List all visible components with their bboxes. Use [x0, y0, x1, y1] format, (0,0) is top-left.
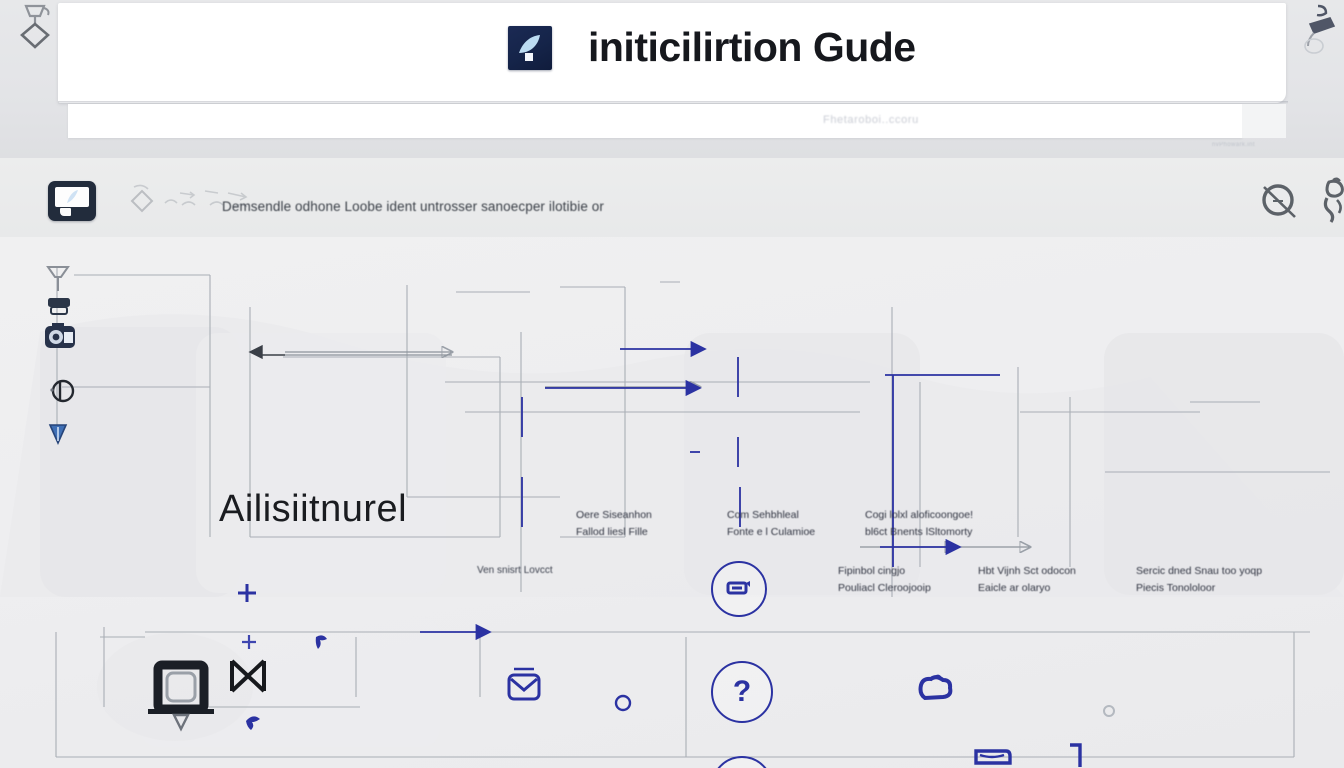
watermark: Fhetaroboi..ccoru: [823, 114, 919, 126]
question-mark-icon: ?: [733, 677, 751, 707]
dot-marker-icon: [1100, 702, 1118, 720]
label-group-4: Fipinbol cingjo Pouliacl Cleroojooip: [838, 563, 931, 597]
plus-small-icon[interactable]: [240, 633, 258, 651]
down-arrow-pin-icon[interactable]: [47, 421, 69, 449]
label-group-5: Hbt Vijnh Sct odocon Eaicle ar olaryo: [978, 563, 1076, 597]
header-band: initicilirtion Gude Fhetaroboi..ccoru nv…: [0, 0, 1344, 158]
camera-photo-icon[interactable]: [42, 319, 78, 351]
label-group-2: Com Sehbhleal Fonte e l Culamioe: [727, 507, 815, 541]
caption-left: Ven snisrt Lovcct: [477, 565, 553, 576]
toolbar-description: Demsendle odhone Loobe ident untrosser s…: [222, 199, 604, 214]
toolbar-actions: [1255, 176, 1344, 226]
title-block: initicilirtion Gude: [508, 24, 916, 71]
app-window: initicilirtion Gude Fhetaroboi..ccoru nv…: [0, 0, 1344, 768]
label-group-3: Cogi lolxl aloficoongoe! bl6ct Bnents lS…: [865, 507, 973, 541]
inbox-tray-icon: [726, 579, 752, 599]
watermark-corner: nvPhowark.int: [1212, 142, 1255, 148]
plus-icon[interactable]: [236, 582, 258, 604]
monitor-frame-icon[interactable]: [140, 647, 236, 743]
monitor-document-icon[interactable]: [48, 181, 96, 221]
search-slash-icon[interactable]: [1255, 177, 1303, 225]
wrench-tools-icon[interactable]: [1313, 176, 1344, 226]
stacked-cards-icon[interactable]: [968, 737, 1016, 768]
funnel-sketch-icon[interactable]: [44, 263, 72, 295]
diagram-heading: Ailisiitnurel: [219, 488, 407, 531]
sketch-pen-icon: [1300, 2, 1340, 60]
label-group-6: Sercic dned Snau too yoqp Piecis Tonolol…: [1136, 563, 1262, 597]
label-group-1: Oere Siseanhon Fallod liesl Fille: [576, 507, 652, 541]
circle-key-icon[interactable]: [48, 377, 78, 405]
diagram-canvas[interactable]: Ailisiitnurel Oere Siseanhon Fallod lies…: [0, 237, 1344, 768]
bird-marker-icon[interactable]: [313, 632, 329, 652]
drawer-icon[interactable]: [45, 295, 73, 317]
bracket-pair-icon[interactable]: [1046, 737, 1086, 768]
bird-glyph-icon[interactable]: [243, 711, 263, 735]
sketch-funnel-icon: [14, 2, 60, 52]
node-inbox[interactable]: [711, 561, 767, 617]
ring-small-icon[interactable]: [612, 692, 634, 714]
page-title: initicilirtion Gude: [588, 24, 916, 71]
bag-icon[interactable]: [505, 665, 543, 705]
app-leaf-logo-icon: [508, 26, 552, 70]
header-subcard: [68, 104, 1242, 138]
node-question-1[interactable]: ?: [711, 661, 773, 723]
header-subcard-tab: [1242, 104, 1286, 138]
cloud-shape-icon[interactable]: [913, 673, 957, 709]
